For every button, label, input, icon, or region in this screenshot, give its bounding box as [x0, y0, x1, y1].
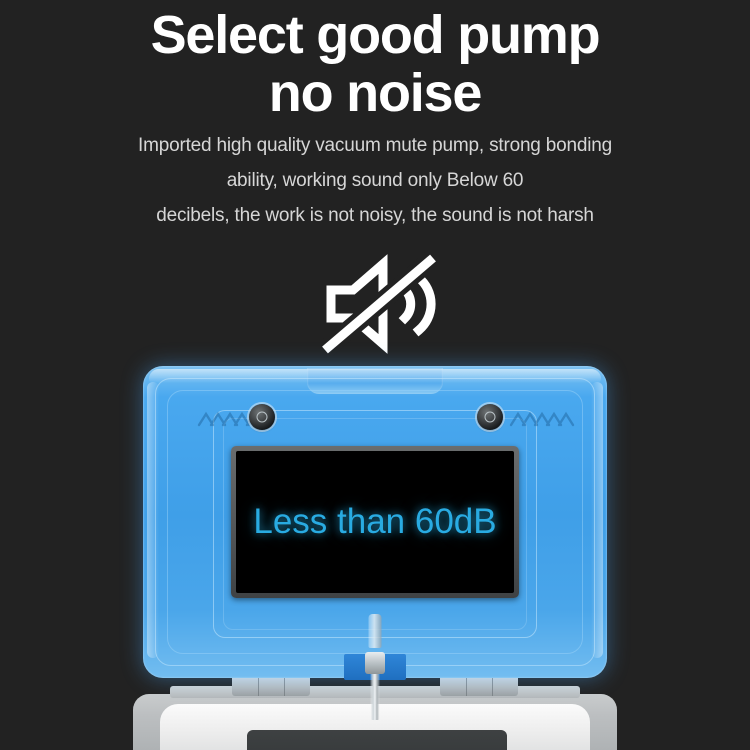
display-bezel: Less than 60dB	[231, 446, 519, 598]
vacuum-machine: Less than 60dB	[0, 352, 750, 750]
lid-screw-left	[249, 404, 275, 430]
description-text: Imported high quality vacuum mute pump, …	[0, 128, 750, 233]
valve-cap	[365, 652, 385, 674]
lid-chevron-ridges-right	[507, 410, 577, 428]
description-line-3: decibels, the work is not noisy, the sou…	[0, 198, 750, 233]
page-title: Select good pump no noise	[0, 6, 750, 122]
description-line-2: ability, working sound only Below 60	[0, 163, 750, 198]
description-line-1: Imported high quality vacuum mute pump, …	[0, 128, 750, 163]
lid-highlight-right	[591, 382, 603, 658]
lid-handle-tab	[307, 368, 443, 394]
lid-highlight-left	[147, 382, 159, 658]
display-screen-text: Less than 60dB	[253, 502, 496, 542]
mute-speaker-icon	[313, 250, 447, 358]
display-screen: Less than 60dB	[236, 451, 514, 593]
valve-tip	[369, 614, 382, 648]
vacuum-chamber	[247, 730, 507, 750]
lid-screw-right	[477, 404, 503, 430]
headline-line-2: no noise	[0, 64, 750, 122]
headline-line-1: Select good pump	[151, 5, 600, 65]
promo-banner: Select good pump no noise Imported high …	[0, 0, 750, 750]
